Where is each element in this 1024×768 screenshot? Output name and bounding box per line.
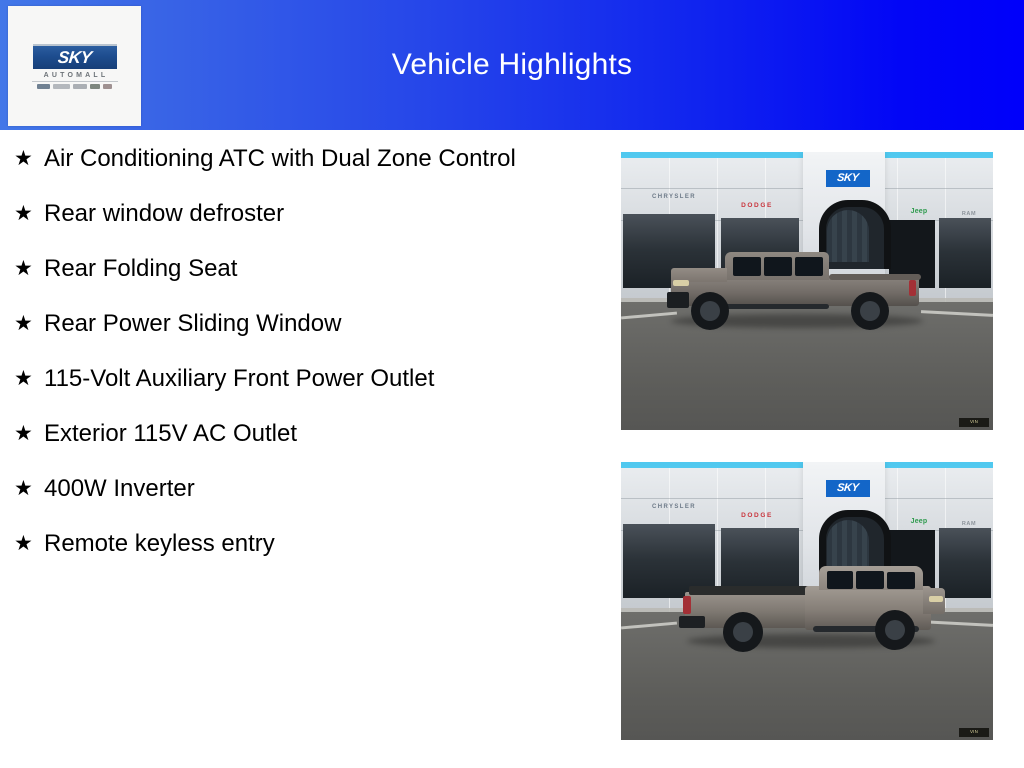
vehicle-photo-rear-three-quarter[interactable]: CHRYSLER DODGE Jeep RAM SKY [621, 462, 993, 740]
feature-item: ★Rear Power Sliding Window [0, 307, 600, 341]
feature-item: ★Exterior 115V AC Outlet [0, 417, 600, 451]
star-bullet-icon: ★ [14, 472, 44, 506]
feature-item-label: Remote keyless entry [44, 527, 275, 561]
star-bullet-icon: ★ [14, 362, 44, 396]
sky-logo-text: SKY [57, 49, 92, 66]
ram-brand-icon [73, 84, 87, 89]
feature-item: ★Rear Folding Seat [0, 252, 600, 286]
feature-item-label: Air Conditioning ATC with Dual Zone Cont… [44, 142, 516, 176]
photo-watermark: VIN [959, 728, 989, 737]
star-bullet-icon: ★ [14, 307, 44, 341]
chrysler-brand-icon [37, 84, 50, 89]
dodge-brand-icon [53, 84, 70, 89]
showroom-window [939, 528, 991, 598]
page-header: Vehicle Highlights [0, 0, 1024, 130]
vehicle-photo-front-profile[interactable]: CHRYSLER DODGE Jeep RAM SKY [621, 152, 993, 430]
dealer-logo-inner: SKY AUTOMALL [29, 44, 121, 89]
feature-item: ★Air Conditioning ATC with Dual Zone Con… [0, 142, 600, 176]
sky-dealership-sign-text: SKY [837, 483, 860, 494]
jeep-sign: Jeep [904, 206, 934, 216]
feature-item: ★400W Inverter [0, 472, 600, 506]
star-bullet-icon: ★ [14, 417, 44, 451]
feature-item: ★Remote keyless entry [0, 527, 600, 561]
vehicle-features-list: ★Air Conditioning ATC with Dual Zone Con… [0, 142, 600, 582]
feature-item-label: 400W Inverter [44, 472, 195, 506]
photo-watermark-text: VIN [970, 730, 978, 735]
jeep-sign: Jeep [904, 516, 934, 526]
sky-dealership-sign-text: SKY [837, 173, 860, 184]
feature-item-label: Rear window defroster [44, 197, 284, 231]
sky-logo-badge: SKY [33, 44, 117, 69]
dodge-sign: DODGE [729, 200, 785, 210]
vehicle-truck-rear [679, 558, 941, 650]
chrysler-sign: CHRYSLER [641, 192, 707, 202]
feature-item-label: Exterior 115V AC Outlet [44, 417, 297, 451]
star-bullet-icon: ★ [14, 252, 44, 286]
fiat-brand-icon [103, 84, 112, 89]
vehicle-truck-profile [663, 240, 929, 328]
feature-item: ★115-Volt Auxiliary Front Power Outlet [0, 362, 600, 396]
showroom-window [939, 218, 991, 288]
brand-strip [32, 84, 118, 89]
photo-watermark-text: VIN [970, 420, 978, 425]
sky-dealership-sign: SKY [826, 480, 870, 497]
star-bullet-icon: ★ [14, 197, 44, 231]
star-bullet-icon: ★ [14, 142, 44, 176]
page-title: Vehicle Highlights [0, 0, 1024, 130]
sky-dealership-sign: SKY [826, 170, 870, 187]
star-bullet-icon: ★ [14, 527, 44, 561]
photo-watermark: VIN [959, 418, 989, 427]
logo-divider [32, 81, 118, 82]
feature-item: ★Rear window defroster [0, 197, 600, 231]
feature-item-label: 115-Volt Auxiliary Front Power Outlet [44, 362, 434, 396]
ram-sign: RAM [951, 519, 987, 528]
jeep-brand-icon [90, 84, 100, 89]
chrysler-sign: CHRYSLER [641, 502, 707, 512]
ram-sign: RAM [951, 209, 987, 218]
dealer-logo[interactable]: SKY AUTOMALL [8, 6, 141, 126]
dodge-sign: DODGE [729, 510, 785, 520]
feature-item-label: Rear Power Sliding Window [44, 307, 341, 341]
feature-item-label: Rear Folding Seat [44, 252, 237, 286]
automall-logo-text: AUTOMALL [41, 72, 109, 79]
